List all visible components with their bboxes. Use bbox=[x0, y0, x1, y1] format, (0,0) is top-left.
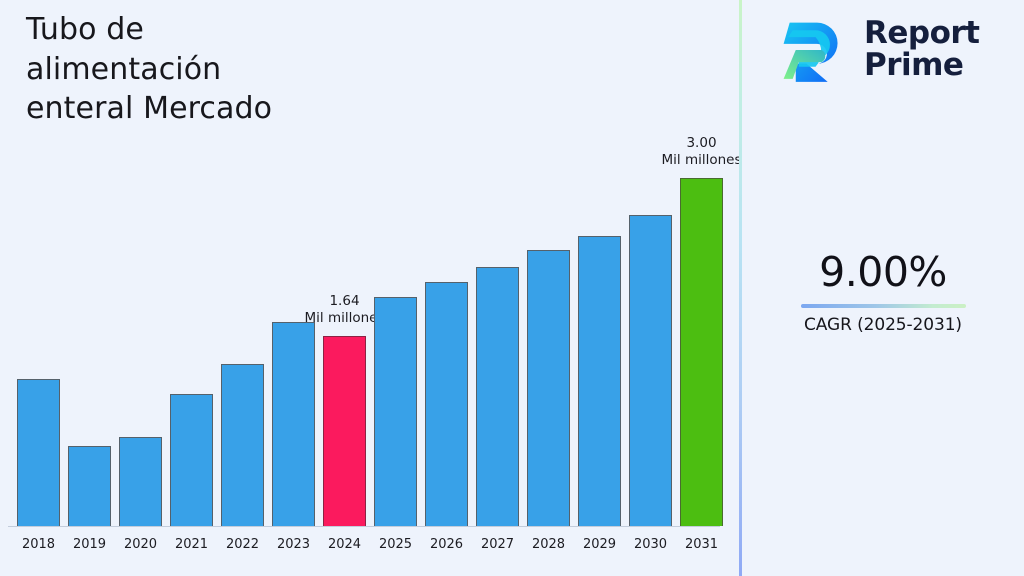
x-tick-2022: 2022 bbox=[221, 537, 264, 552]
bar-2023 bbox=[272, 322, 315, 526]
bar-2030 bbox=[629, 215, 672, 526]
bar-chart-plot-area: 20182019202020212022202320241.64 Mil mil… bbox=[0, 0, 740, 576]
x-tick-2019: 2019 bbox=[68, 537, 111, 552]
cagr-label: CAGR (2025-2031) bbox=[742, 315, 1024, 335]
cagr-value: 9.00% bbox=[742, 250, 1024, 295]
bar-2031 bbox=[680, 178, 723, 526]
x-tick-2024: 2024 bbox=[323, 537, 366, 552]
bar-2029 bbox=[578, 236, 621, 526]
brand-name: Report Prime bbox=[864, 18, 980, 81]
bar-2020 bbox=[119, 437, 162, 526]
x-tick-2018: 2018 bbox=[17, 537, 60, 552]
x-tick-2025: 2025 bbox=[374, 537, 417, 552]
x-tick-2020: 2020 bbox=[119, 537, 162, 552]
x-tick-2023: 2023 bbox=[272, 537, 315, 552]
bar-2024 bbox=[323, 336, 366, 526]
bar-2025 bbox=[374, 297, 417, 526]
bar-2022 bbox=[221, 364, 264, 526]
brand-panel: Report Prime 9.00% CAGR (2025-2031) bbox=[742, 0, 1024, 576]
report-prime-logo-icon bbox=[776, 12, 852, 88]
bar-2028 bbox=[527, 250, 570, 526]
bar-2027 bbox=[476, 267, 519, 526]
chart-panel: Tubo de alimentación enteral Mercado 201… bbox=[0, 0, 740, 576]
cagr-block: 9.00% CAGR (2025-2031) bbox=[742, 250, 1024, 335]
bar-2018 bbox=[17, 379, 60, 526]
bar-2019 bbox=[68, 446, 111, 526]
slide-root: Tubo de alimentación enteral Mercado 201… bbox=[0, 0, 1024, 576]
x-axis-line bbox=[8, 526, 720, 527]
x-tick-2031: 2031 bbox=[680, 537, 723, 552]
bar-2026 bbox=[425, 282, 468, 526]
x-tick-2021: 2021 bbox=[170, 537, 213, 552]
x-tick-2027: 2027 bbox=[476, 537, 519, 552]
x-tick-2028: 2028 bbox=[527, 537, 570, 552]
x-tick-2030: 2030 bbox=[629, 537, 672, 552]
x-tick-2026: 2026 bbox=[425, 537, 468, 552]
x-tick-2029: 2029 bbox=[578, 537, 621, 552]
cagr-divider-rule bbox=[801, 304, 966, 308]
bar-2021 bbox=[170, 394, 213, 526]
brand-logo: Report Prime bbox=[776, 12, 980, 88]
